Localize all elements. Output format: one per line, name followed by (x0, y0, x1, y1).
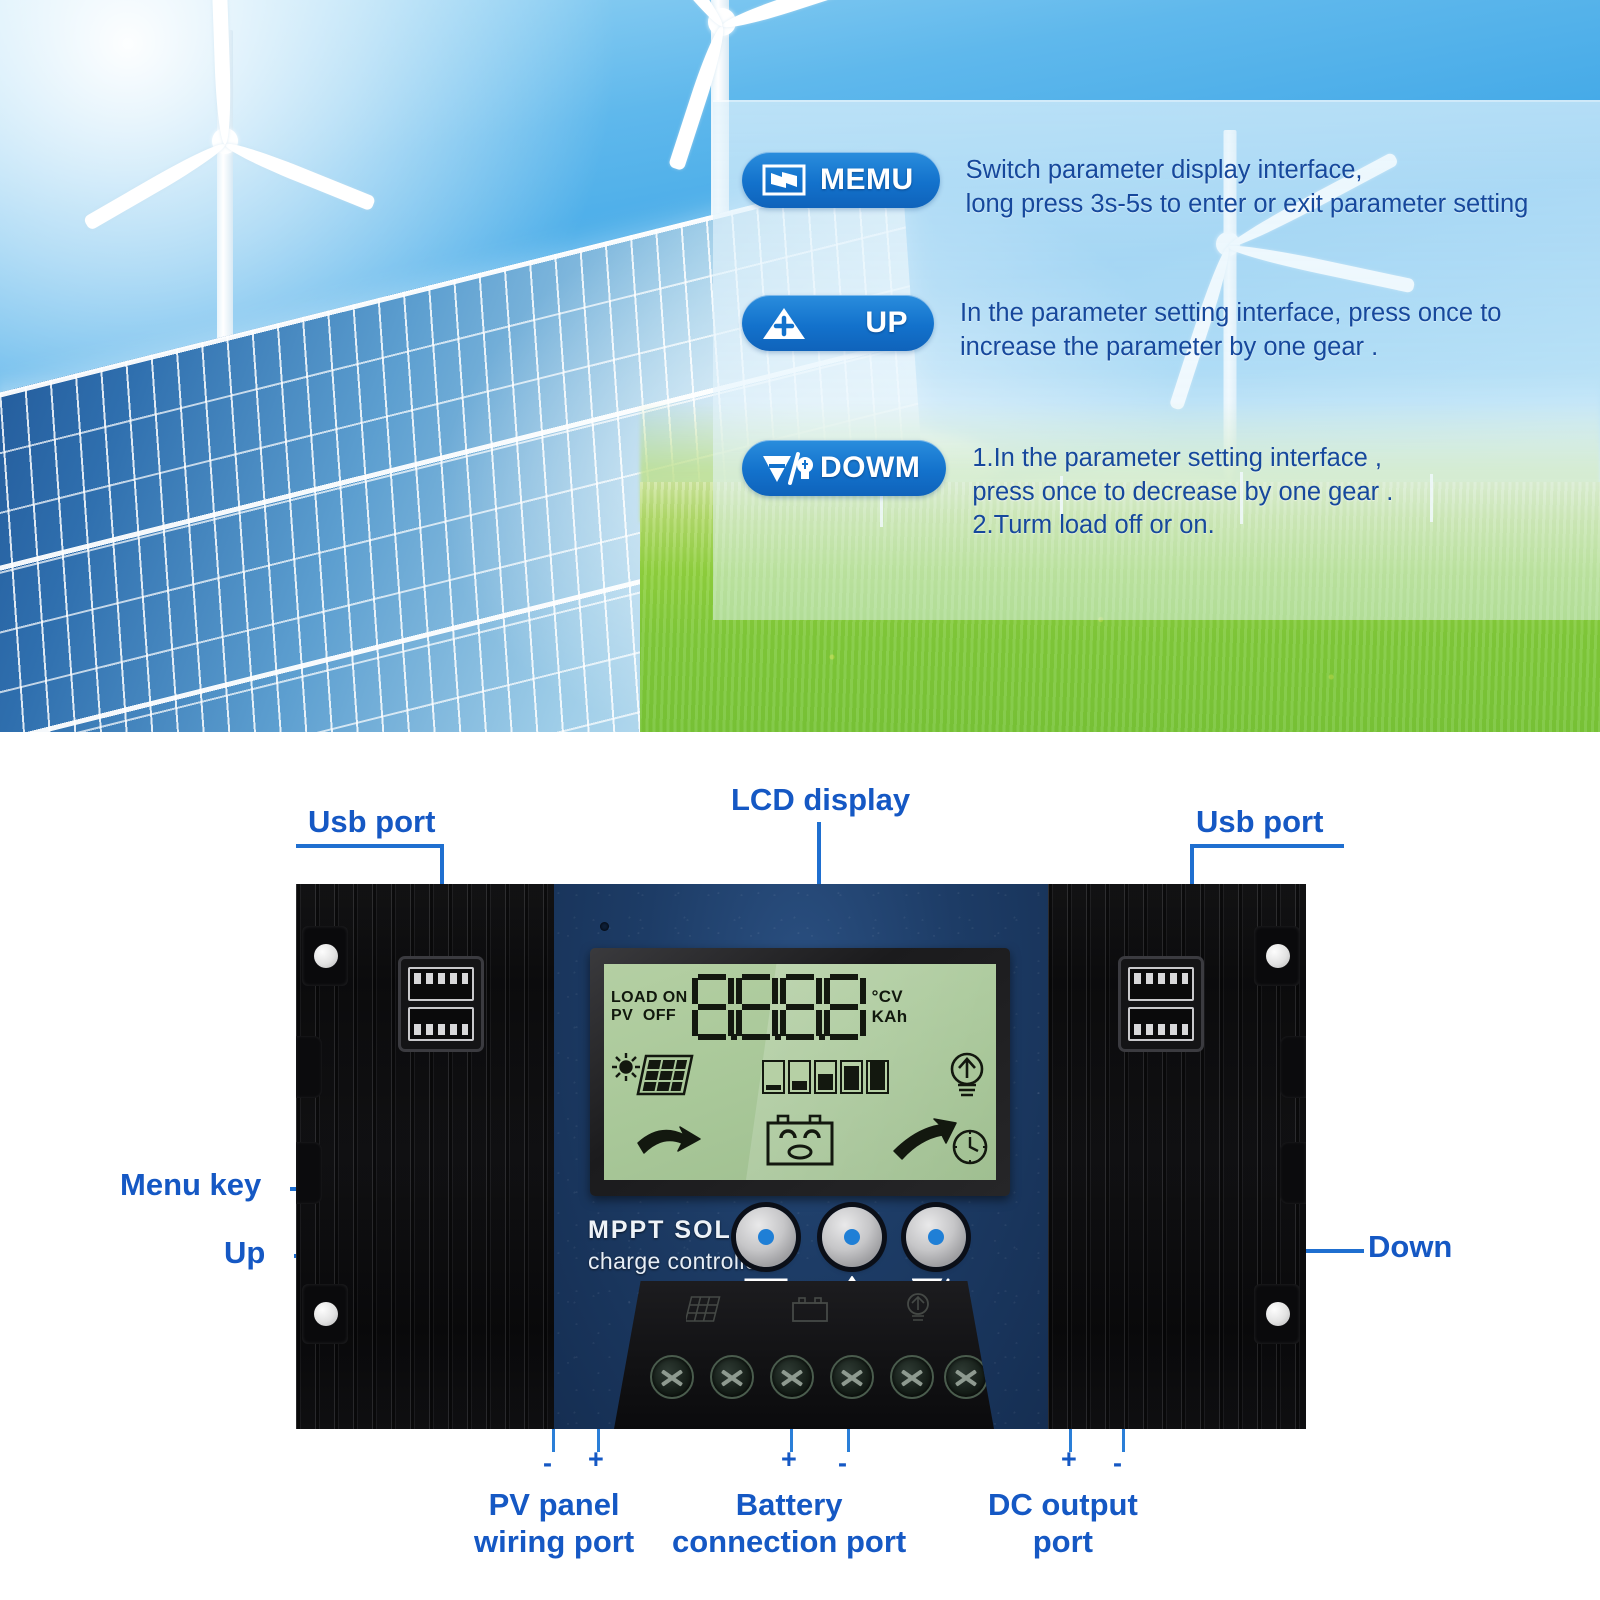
polarity-pv-minus: - (543, 1448, 552, 1479)
right-heatsink (1048, 884, 1306, 1429)
mounting-hole (1254, 1284, 1300, 1344)
lcd-bezel: LOAD ON PV OFF (590, 948, 1010, 1196)
memu-description: Switch parameter display interface, long… (966, 152, 1529, 221)
mounting-hole (302, 1284, 348, 1344)
instruction-row-menu: MEMU Switch parameter display interface,… (742, 152, 1528, 221)
terminal-dc-plus[interactable] (890, 1355, 934, 1399)
triangle-down-bulb-icon (760, 449, 808, 487)
battery-level-bars (762, 1060, 889, 1094)
menu-key-button[interactable] (736, 1207, 796, 1267)
terminal-pv-plus[interactable] (710, 1355, 754, 1399)
memu-button-label: MEMU (820, 163, 914, 197)
instruction-row-down: DOWM 1.In the parameter setting interfac… (742, 440, 1393, 543)
battery-bar (762, 1060, 785, 1094)
bulb-terminal-icon (898, 1291, 938, 1319)
moon-arrow-icon-group (612, 1111, 708, 1174)
mounting-hole (1254, 926, 1300, 986)
battery-bar (788, 1060, 811, 1094)
side-notch (296, 1036, 322, 1098)
callout-usb-right: Usb port (1196, 804, 1323, 841)
seg-digit (780, 974, 822, 1040)
lcd-unit-labels: °CV KAh (872, 987, 908, 1027)
lcd-seven-segment-digits (692, 974, 868, 1040)
callout-lcd: LCD display (731, 782, 910, 819)
instruction-row-up: UP In the parameter setting interface, p… (742, 295, 1501, 364)
polarity-dc-minus: - (1113, 1448, 1122, 1479)
lcd-unit-bottom: KAh (872, 1007, 908, 1027)
terminal-dc-minus[interactable] (944, 1355, 988, 1399)
battery-smiley-icon (764, 1112, 836, 1173)
callout-usb-left: Usb port (308, 804, 435, 841)
battery-bar (814, 1060, 837, 1094)
polarity-bat-plus: + (781, 1444, 797, 1475)
lcd-pv-state: OFF (643, 1007, 676, 1024)
arrow-clock-icon-group (892, 1111, 988, 1174)
up-key-button[interactable] (822, 1207, 882, 1267)
product-diagram-section: Usb port LCD display Usb port Menu key U… (0, 732, 1600, 1600)
terminal-pv-minus[interactable] (650, 1355, 694, 1399)
seg-digit (736, 974, 778, 1040)
lcd-load-label: LOAD (611, 989, 658, 1006)
callout-down: Down (1368, 1229, 1452, 1266)
usb-slot (408, 967, 474, 1001)
light-bulb-icon (946, 1050, 988, 1105)
lcd-display: LOAD ON PV OFF (604, 964, 996, 1180)
callout-battery-port: Battery connection port (672, 1487, 906, 1560)
left-heatsink (296, 884, 554, 1429)
seg-digit (824, 974, 866, 1040)
solar-panel-terminal-icon (686, 1295, 726, 1323)
terminal-plate (614, 1281, 994, 1429)
mounting-hole (302, 926, 348, 986)
lcd-unit-top: °CV (872, 987, 908, 1007)
usb-port-right[interactable] (1118, 956, 1204, 1052)
up-button[interactable]: UP (742, 295, 934, 351)
lcd-icon-row-bottom (612, 1108, 988, 1176)
seg-digit (692, 974, 734, 1040)
usb-slot (408, 1007, 474, 1041)
side-notch (1280, 1142, 1306, 1204)
lcd-load-state: ON (663, 989, 688, 1006)
callout-pv-port: PV panel wiring port (474, 1487, 634, 1560)
lcd-icon-row-middle (612, 1046, 988, 1108)
battery-bar (840, 1060, 863, 1094)
side-notch (1280, 1036, 1306, 1098)
battery-terminal-icon (790, 1295, 830, 1323)
status-led (600, 922, 609, 931)
side-notch (296, 1142, 322, 1204)
triangle-up-plus-icon (760, 304, 808, 342)
hero-photo-section: MEMU Switch parameter display interface,… (0, 0, 1600, 732)
up-description: In the parameter setting interface, pres… (960, 295, 1501, 364)
menu-flag-icon (760, 161, 808, 199)
dowm-button[interactable]: DOWM (742, 440, 946, 496)
battery-bar (866, 1060, 889, 1094)
leader-line (1192, 844, 1344, 848)
leader-line (296, 844, 444, 848)
dowm-description: 1.In the parameter setting interface , p… (972, 440, 1393, 543)
down-key-button[interactable] (906, 1207, 966, 1267)
callout-up: Up (224, 1235, 265, 1272)
dowm-button-label: DOWM (820, 451, 920, 485)
terminal-battery-plus[interactable] (770, 1355, 814, 1399)
usb-slot (1128, 1007, 1194, 1041)
callout-dc-port: DC output port (988, 1487, 1138, 1560)
lcd-pv-label: PV (611, 1007, 633, 1024)
lcd-numeric-row: LOAD ON PV OFF (611, 970, 990, 1044)
memu-button[interactable]: MEMU (742, 152, 940, 208)
terminal-battery-minus[interactable] (830, 1355, 874, 1399)
callout-menu-key: Menu key (120, 1167, 261, 1204)
up-button-label: UP (865, 306, 908, 340)
polarity-pv-plus: + (588, 1444, 604, 1475)
sun-panel-icon-group (612, 1050, 704, 1105)
polarity-bat-minus: - (838, 1448, 847, 1479)
usb-port-left[interactable] (398, 956, 484, 1052)
usb-slot (1128, 967, 1194, 1001)
lcd-status-labels: LOAD ON PV OFF (611, 989, 688, 1025)
charge-controller-device: LOAD ON PV OFF (296, 884, 1306, 1429)
